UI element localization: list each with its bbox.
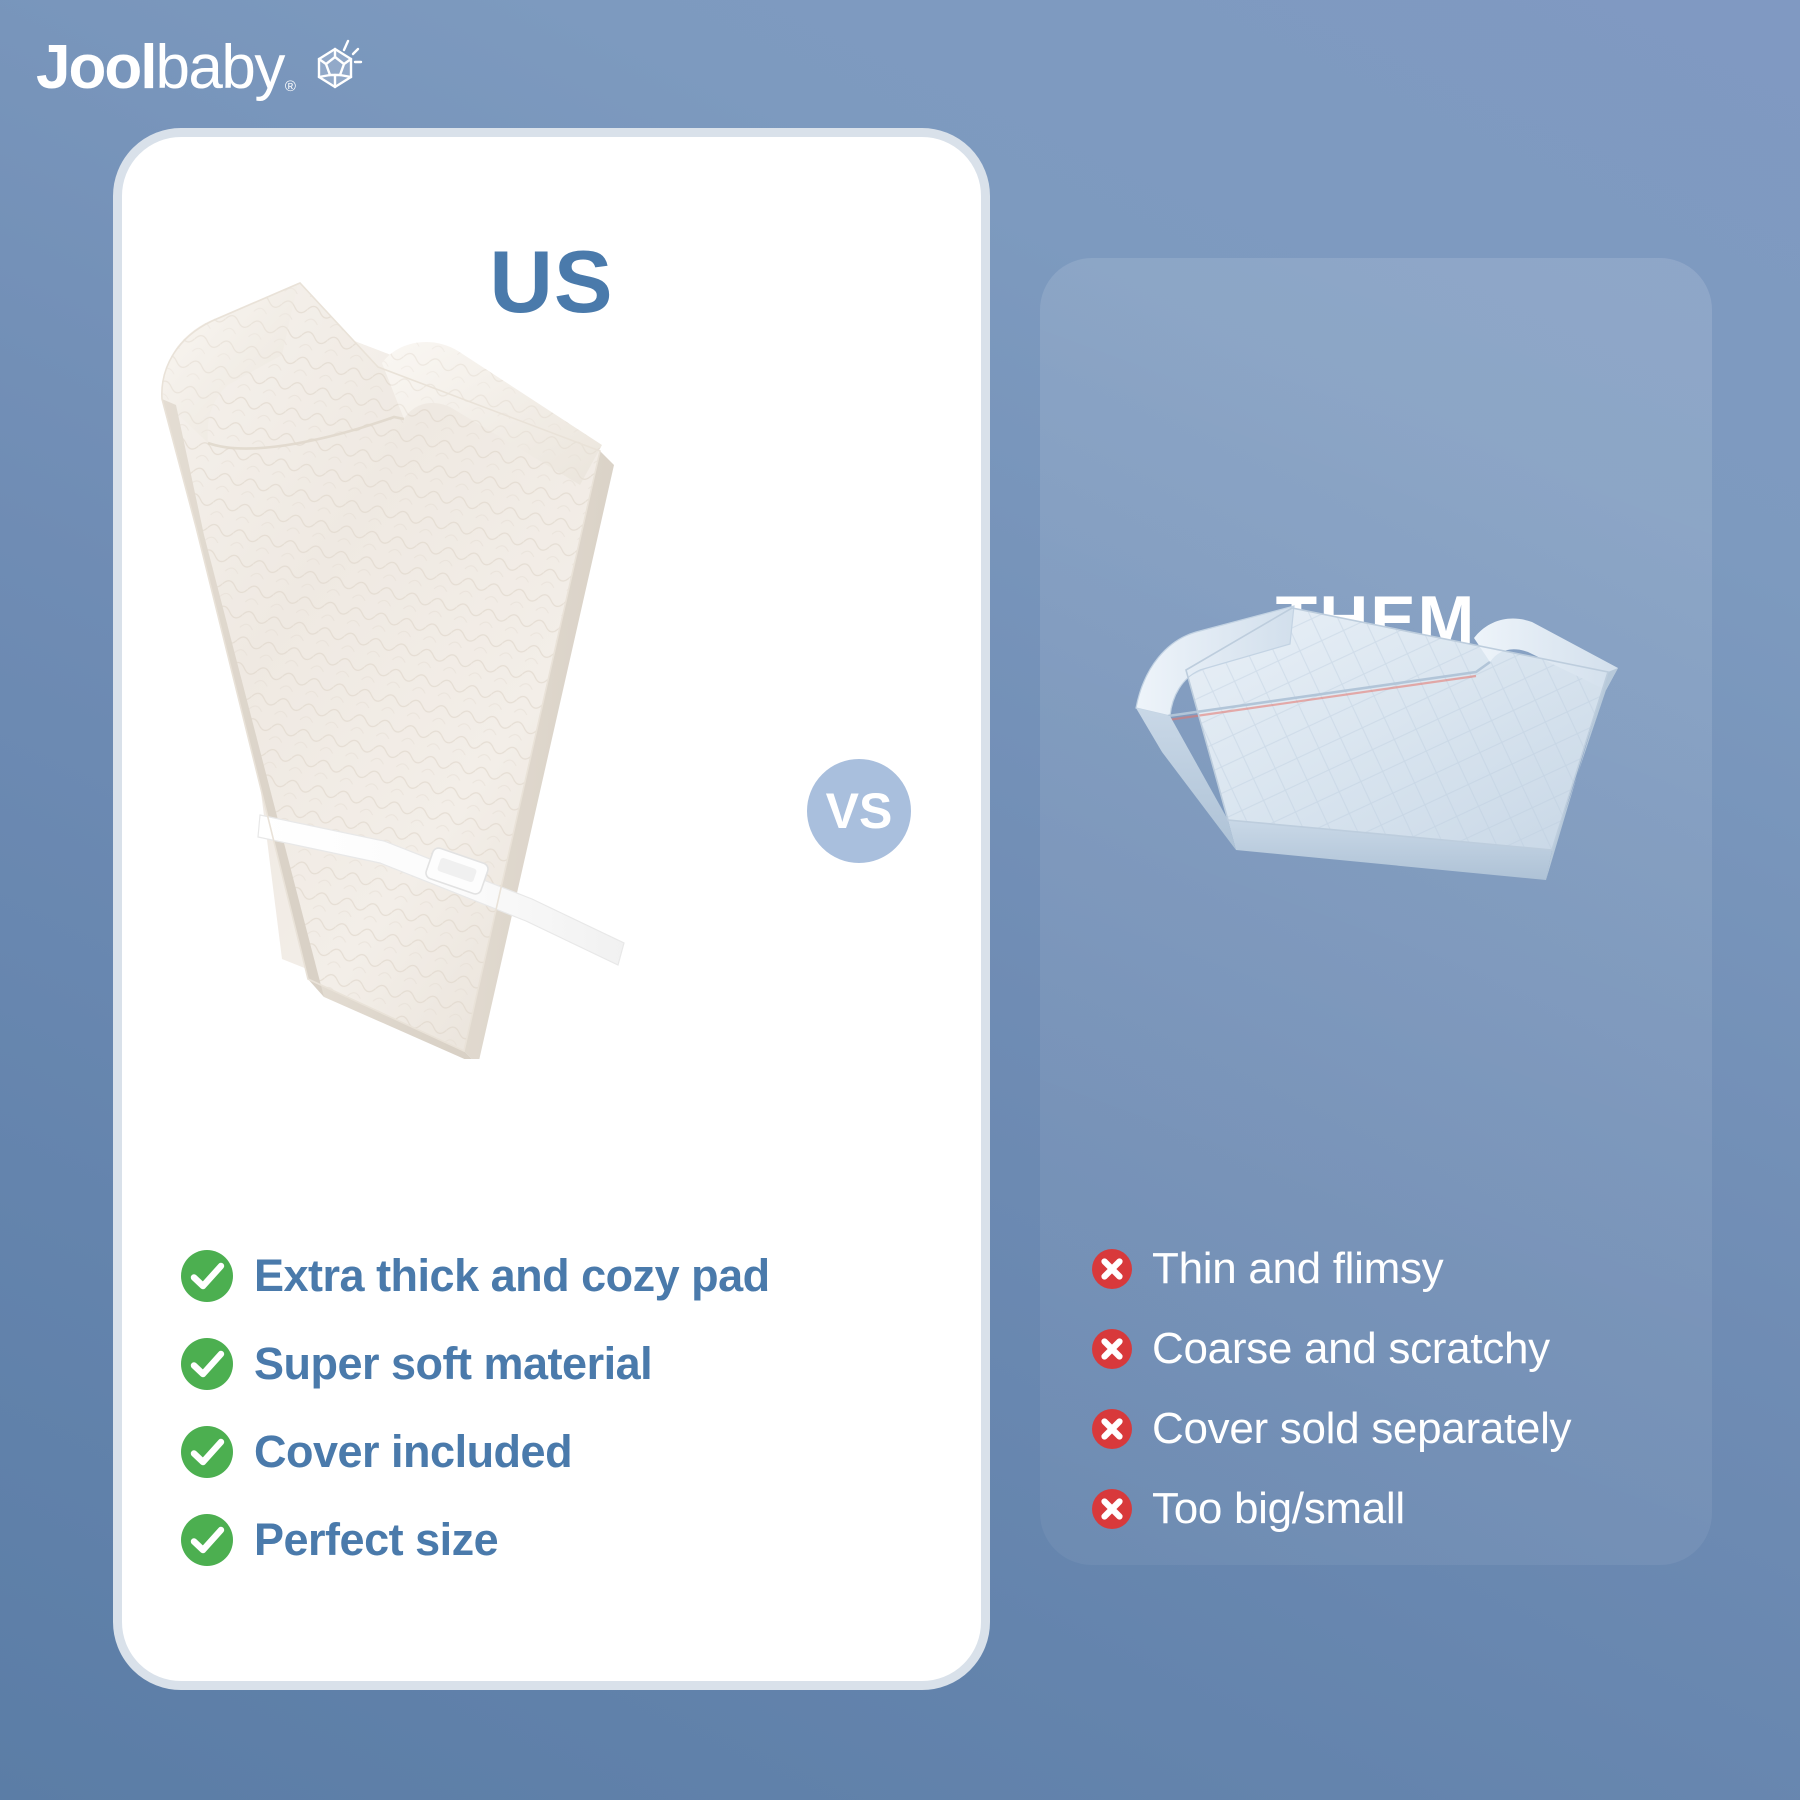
- brand-logo: Jool baby ®: [36, 32, 366, 104]
- us-feature-list: Extra thick and cozy pad Super soft mate…: [178, 1245, 958, 1597]
- us-card: US: [113, 128, 990, 1690]
- x-circle-icon: [1090, 1247, 1134, 1291]
- them-feature-list: Thin and flimsy Coarse and scratchy: [1090, 1240, 1700, 1560]
- list-item: Too big/small: [1090, 1480, 1700, 1538]
- list-item: Cover sold separately: [1090, 1400, 1700, 1458]
- check-circle-icon: [178, 1423, 236, 1481]
- gem-icon: [304, 35, 366, 102]
- list-item: Perfect size: [178, 1509, 958, 1571]
- brand-name-light: baby: [155, 37, 283, 99]
- list-item: Coarse and scratchy: [1090, 1320, 1700, 1378]
- x-circle-icon: [1090, 1327, 1134, 1371]
- check-circle-icon: [178, 1511, 236, 1569]
- x-circle-icon: [1090, 1407, 1134, 1451]
- list-item-label: Cover included: [254, 1427, 572, 1477]
- x-circle-icon: [1090, 1487, 1134, 1531]
- us-product-image: [132, 259, 872, 1059]
- list-item-label: Cover sold separately: [1152, 1404, 1571, 1454]
- list-item-label: Thin and flimsy: [1152, 1244, 1443, 1294]
- list-item: Cover included: [178, 1421, 958, 1483]
- list-item: Super soft material: [178, 1333, 958, 1395]
- check-circle-icon: [178, 1247, 236, 1305]
- list-item-label: Coarse and scratchy: [1152, 1324, 1550, 1374]
- list-item-label: Perfect size: [254, 1515, 498, 1565]
- them-product-image: [1040, 520, 1660, 920]
- versus-badge: VS: [800, 752, 918, 870]
- list-item-label: Super soft material: [254, 1339, 652, 1389]
- versus-label: VS: [826, 786, 893, 836]
- list-item-label: Too big/small: [1152, 1484, 1405, 1534]
- list-item-label: Extra thick and cozy pad: [254, 1251, 770, 1301]
- list-item: Extra thick and cozy pad: [178, 1245, 958, 1307]
- check-circle-icon: [178, 1335, 236, 1393]
- list-item: Thin and flimsy: [1090, 1240, 1700, 1298]
- them-panel: THEM: [1040, 258, 1712, 1565]
- comparison-infographic: Jool baby ® TH: [0, 0, 1800, 1800]
- brand-name-bold: Jool: [36, 37, 155, 99]
- registered-mark: ®: [285, 79, 296, 94]
